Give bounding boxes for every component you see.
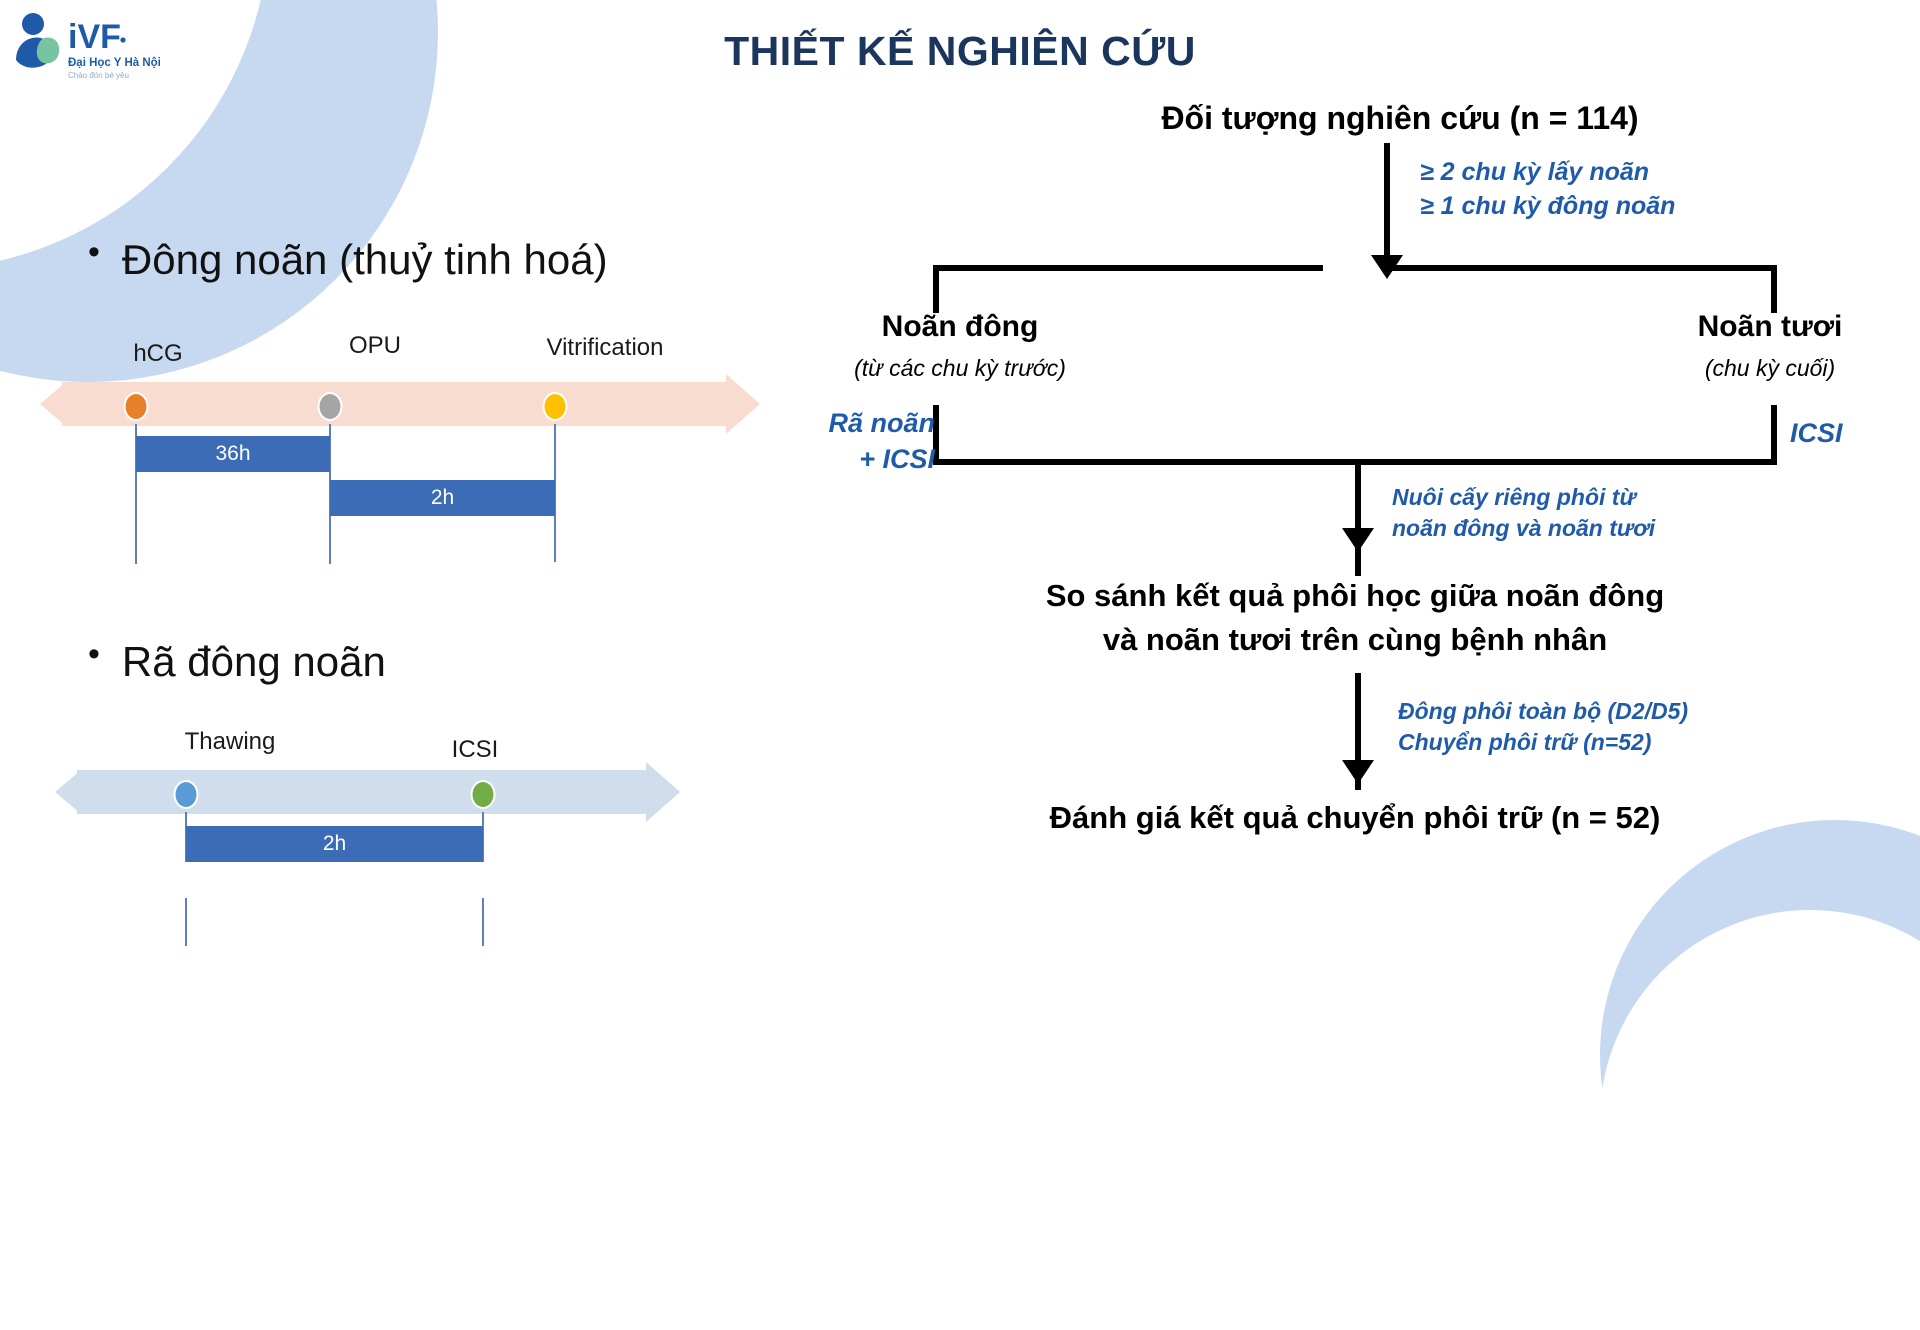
logo-graphic: iVF Đại Học Y Hà Nội Chào đón bé yêu bbox=[10, 8, 200, 88]
flow-arrow-culture-head bbox=[1342, 528, 1374, 552]
timeline2-bar-2h: 2h bbox=[186, 826, 483, 862]
svg-text:iVF: iVF bbox=[68, 18, 121, 56]
slide-canvas: iVF Đại Học Y Hà Nội Chào đón bé yêu THI… bbox=[0, 0, 1920, 1080]
timeline-thawing: Thawing ICSI 2h bbox=[55, 770, 905, 970]
timeline1-bar-36h-label: 36h bbox=[215, 442, 250, 466]
timeline1-stem-opu-lower bbox=[329, 516, 331, 564]
flow-annotation-transfer-line2: Chuyển phôi trữ (n=52) bbox=[1398, 727, 1688, 758]
flow-annotation-thaw-icsi-line1: Rã noãn bbox=[795, 405, 935, 441]
timeline1-bar-2h-label: 2h bbox=[431, 486, 454, 510]
flow-arrow-top-line bbox=[1384, 143, 1390, 261]
bullet-label-thawing: Rã đông noãn bbox=[122, 632, 386, 692]
bullet-item-freezing: • Đông noãn (thuỷ tinh hoá) bbox=[88, 230, 648, 290]
ivf-logo: iVF Đại Học Y Hà Nội Chào đón bé yêu bbox=[10, 8, 200, 88]
timeline1-stem-hcg-lower bbox=[135, 472, 137, 564]
flow-node-evaluate-transfer: Đánh giá kết quả chuyển phôi trữ (n = 52… bbox=[830, 800, 1880, 836]
flow-annotation-icsi: ICSI bbox=[1790, 415, 1843, 451]
flow-annotation-transfer: Đông phôi toàn bộ (D2/D5) Chuyển phôi tr… bbox=[1398, 696, 1688, 758]
timeline2-stem-icsi-lower bbox=[482, 898, 484, 946]
timeline1-bar-2h: 2h bbox=[330, 480, 555, 516]
timeline2-stem-thawing-lower bbox=[185, 898, 187, 946]
svg-text:Chào đón bé yêu: Chào đón bé yêu bbox=[68, 71, 129, 80]
flow-node-compare-line1: So sánh kết quả phôi học giữa noãn đông bbox=[830, 578, 1880, 614]
timeline2-bar-2h-label: 2h bbox=[323, 832, 346, 856]
timeline1-marker-hcg bbox=[124, 392, 149, 421]
left-column: • Đông noãn (thuỷ tinh hoá) hCG OPU Vitr… bbox=[0, 0, 950, 1080]
flow-split-bar-right bbox=[1387, 265, 1777, 271]
timeline1-track-tail bbox=[40, 382, 66, 426]
timeline2-marker-thawing bbox=[174, 780, 199, 809]
flow-merge-line-right bbox=[1771, 405, 1777, 465]
timeline1-track-arrowhead bbox=[726, 374, 760, 434]
timeline1-bar-36h: 36h bbox=[136, 436, 330, 472]
timeline2-label-thawing: Thawing bbox=[185, 728, 276, 756]
flow-arrow-transfer-head bbox=[1342, 760, 1374, 784]
flow-node-study-population: Đối tượng nghiên cứu (n = 114) bbox=[950, 100, 1850, 137]
timeline1-marker-vitrification bbox=[543, 392, 568, 421]
flow-node-fresh-oocyte: Noãn tươi bbox=[1610, 310, 1920, 344]
svg-text:Đại Học Y Hà Nội: Đại Học Y Hà Nội bbox=[68, 57, 161, 69]
timeline1-track-band bbox=[62, 382, 730, 426]
timeline2-track-tail bbox=[55, 770, 81, 814]
study-design-flowchart: Đối tượng nghiên cứu (n = 114) ≥ 2 chu k… bbox=[950, 0, 1920, 1080]
flow-annotation-culture: Nuôi cấy riêng phôi từ noãn đông và noãn… bbox=[1392, 482, 1655, 544]
flow-annotation-culture-line2: noãn đông và noãn tươi bbox=[1392, 513, 1655, 544]
flow-node-fresh-oocyte-sub: (chu kỳ cuối) bbox=[1610, 355, 1920, 382]
timeline2-label-icsi: ICSI bbox=[452, 736, 499, 764]
page-title: THIẾT KẾ NGHIÊN CỨU bbox=[480, 28, 1440, 75]
flow-annotation-inclusion: ≥ 2 chu kỳ lấy noãn ≥ 1 chu kỳ đông noãn bbox=[1420, 156, 1675, 224]
bullet-dot-icon: • bbox=[88, 234, 100, 271]
flow-annotation-transfer-line1: Đông phôi toàn bộ (D2/D5) bbox=[1398, 696, 1688, 727]
timeline2-marker-icsi bbox=[471, 780, 496, 809]
flow-node-compare-line2: và noãn tươi trên cùng bệnh nhân bbox=[830, 622, 1880, 658]
bullet-item-thawing: • Rã đông noãn bbox=[88, 632, 508, 692]
timeline1-label-vitrification: Vitrification bbox=[547, 334, 664, 362]
flow-split-drop-right bbox=[1771, 265, 1777, 313]
flow-arrow-culture-line bbox=[1355, 459, 1361, 576]
flow-annotation-inclusion-line2: ≥ 1 chu kỳ đông noãn bbox=[1420, 190, 1675, 224]
timeline2-track-band bbox=[77, 770, 650, 814]
timeline1-marker-opu bbox=[318, 392, 343, 421]
timeline1-label-hcg: hCG bbox=[133, 340, 182, 368]
flow-annotation-thaw-icsi-line2: + ICSI bbox=[795, 441, 935, 477]
flow-annotation-thaw-icsi: Rã noãn + ICSI bbox=[795, 405, 935, 478]
bullet-label-freezing: Đông noãn (thuỷ tinh hoá) bbox=[122, 230, 608, 290]
bullet-dot-icon-2: • bbox=[88, 636, 100, 673]
flow-annotation-culture-line1: Nuôi cấy riêng phôi từ bbox=[1392, 482, 1655, 513]
flow-annotation-inclusion-line1: ≥ 2 chu kỳ lấy noãn bbox=[1420, 156, 1675, 190]
timeline1-label-opu: OPU bbox=[349, 332, 401, 360]
timeline2-track bbox=[55, 770, 650, 814]
flow-node-frozen-oocyte: Noãn đông bbox=[800, 310, 1120, 344]
flow-split-drop-left bbox=[933, 265, 939, 313]
flow-split-bar-left bbox=[933, 265, 1323, 271]
flow-node-frozen-oocyte-sub: (từ các chu kỳ trước) bbox=[800, 355, 1120, 382]
timeline2-track-arrowhead bbox=[646, 762, 680, 822]
